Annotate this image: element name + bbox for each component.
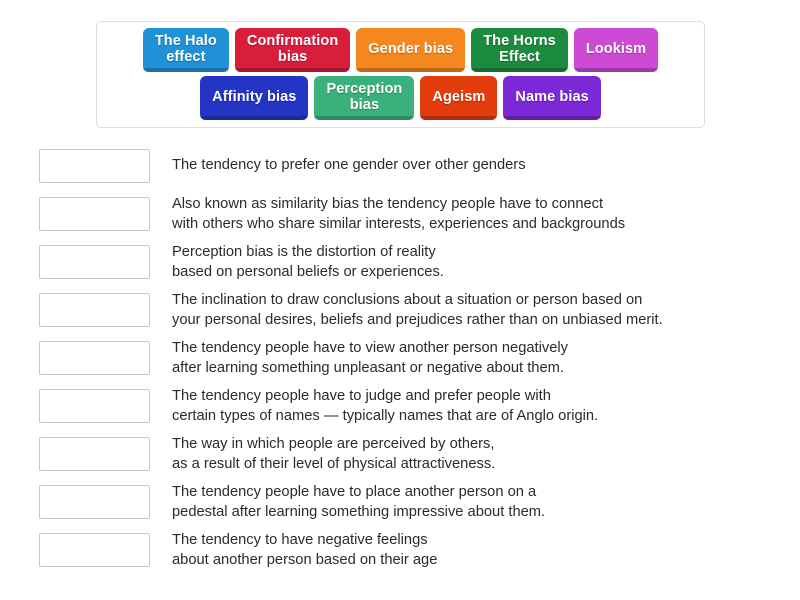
answer-drop-box-8[interactable] bbox=[39, 485, 150, 519]
tile-the-horns-effect[interactable]: The Horns Effect bbox=[471, 28, 568, 72]
definition-row: The way in which people are perceived by… bbox=[0, 434, 800, 482]
tile-the-halo-effect[interactable]: The Halo effect bbox=[143, 28, 229, 72]
definition-list: The tendency to prefer one gender over o… bbox=[0, 146, 800, 578]
definition-row: Also known as similarity bias the tenden… bbox=[0, 194, 800, 242]
definition-text: The way in which people are perceived by… bbox=[172, 434, 495, 474]
answer-drop-box-3[interactable] bbox=[39, 245, 150, 279]
definition-text: The inclination to draw conclusions abou… bbox=[172, 290, 663, 330]
definition-text: The tendency people have to view another… bbox=[172, 338, 568, 378]
definition-row: Perception bias is the distortion of rea… bbox=[0, 242, 800, 290]
tile-confirmation-bias[interactable]: Confirmation bias bbox=[235, 28, 350, 72]
tile-row-2: Affinity biasPerception biasAgeismName b… bbox=[104, 76, 697, 122]
definition-row: The tendency people have to view another… bbox=[0, 338, 800, 386]
definition-text: The tendency people have to place anothe… bbox=[172, 482, 545, 522]
definition-text: The tendency to have negative feelings a… bbox=[172, 530, 437, 570]
answer-drop-box-5[interactable] bbox=[39, 341, 150, 375]
definition-row: The tendency people have to judge and pr… bbox=[0, 386, 800, 434]
answer-drop-box-9[interactable] bbox=[39, 533, 150, 567]
tile-row-1: The Halo effectConfirmation biasGender b… bbox=[104, 28, 697, 74]
tile-ageism[interactable]: Ageism bbox=[420, 76, 497, 120]
bias-term-tile-bank: The Halo effectConfirmation biasGender b… bbox=[96, 21, 705, 128]
match-up-activity: The Halo effectConfirmation biasGender b… bbox=[0, 0, 800, 600]
definition-row: The inclination to draw conclusions abou… bbox=[0, 290, 800, 338]
tile-affinity-bias[interactable]: Affinity bias bbox=[200, 76, 308, 120]
tile-gender-bias[interactable]: Gender bias bbox=[356, 28, 465, 72]
answer-drop-box-2[interactable] bbox=[39, 197, 150, 231]
answer-drop-box-6[interactable] bbox=[39, 389, 150, 423]
answer-drop-box-7[interactable] bbox=[39, 437, 150, 471]
answer-drop-box-4[interactable] bbox=[39, 293, 150, 327]
tile-perception-bias[interactable]: Perception bias bbox=[314, 76, 414, 120]
definition-row: The tendency people have to place anothe… bbox=[0, 482, 800, 530]
tile-lookism[interactable]: Lookism bbox=[574, 28, 658, 72]
definition-row: The tendency to prefer one gender over o… bbox=[0, 146, 800, 194]
definition-text: The tendency people have to judge and pr… bbox=[172, 386, 598, 426]
definition-text: Also known as similarity bias the tenden… bbox=[172, 194, 625, 234]
definition-text: Perception bias is the distortion of rea… bbox=[172, 242, 444, 282]
answer-drop-box-1[interactable] bbox=[39, 149, 150, 183]
definition-row: The tendency to have negative feelings a… bbox=[0, 530, 800, 578]
tile-name-bias[interactable]: Name bias bbox=[503, 76, 600, 120]
definition-text: The tendency to prefer one gender over o… bbox=[172, 146, 526, 176]
